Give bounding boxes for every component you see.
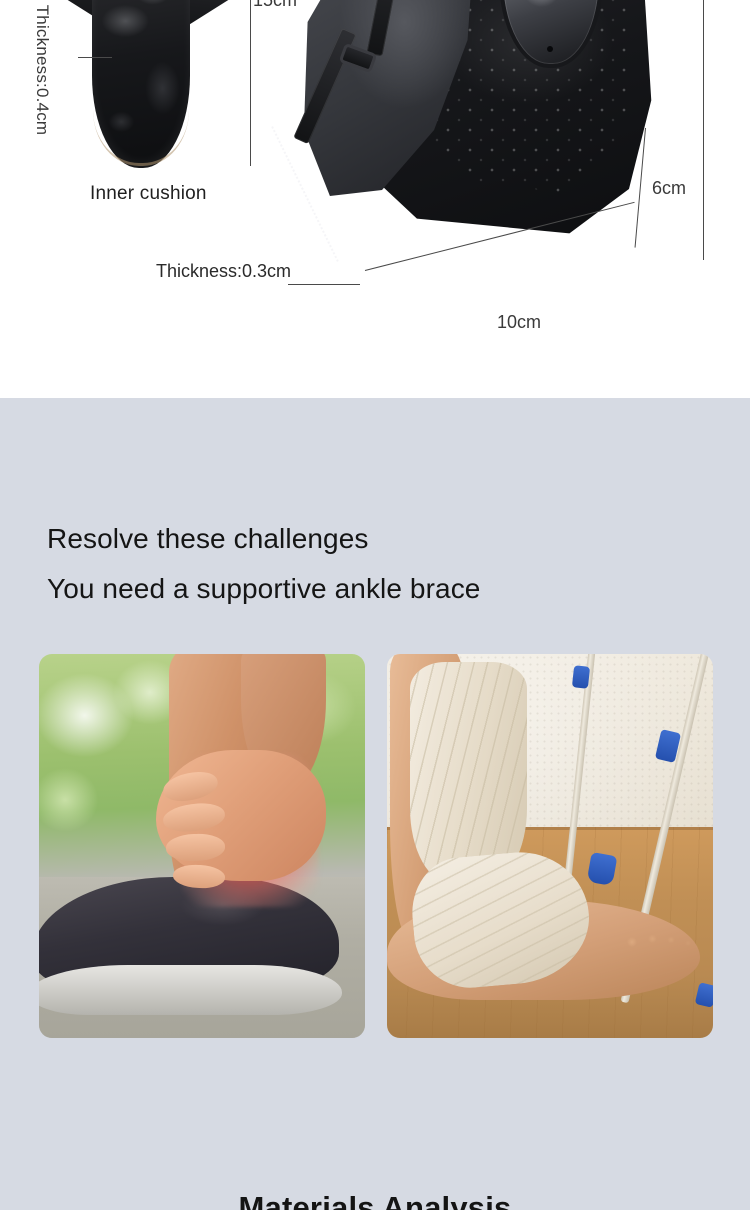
next-section-heading: Materials Analysis bbox=[0, 1192, 750, 1210]
cushion-thickness-leader-line bbox=[78, 57, 112, 58]
product-listing-page: 15cm 6cm 10cm Thickness:0.3cm Thickness:… bbox=[0, 0, 750, 1210]
challenges-section: Resolve these challenges You need a supp… bbox=[0, 398, 750, 1210]
height-label: 15cm bbox=[253, 0, 297, 11]
spec-diagram-section: 15cm 6cm 10cm Thickness:0.3cm Thickness:… bbox=[0, 0, 750, 398]
right-boundary-line bbox=[703, 0, 704, 260]
brace-thickness-leader-line bbox=[288, 284, 360, 285]
toes bbox=[615, 915, 700, 969]
bandaged-ankle-photo bbox=[387, 654, 713, 1038]
depth-label: 6cm bbox=[652, 178, 686, 199]
height-measure-line bbox=[250, 0, 251, 166]
ankle-brace-image bbox=[283, 0, 655, 300]
leg-bandage-wrap bbox=[410, 662, 527, 885]
inner-cushion-image bbox=[62, 0, 234, 170]
inner-cushion-label: Inner cushion bbox=[90, 183, 207, 205]
injured-ankle-photo bbox=[39, 654, 365, 1038]
cushion-thickness-label: Thickness:0.4cm bbox=[32, 0, 52, 140]
challenges-heading-primary: Resolve these challenges bbox=[47, 521, 480, 557]
width-label: 10cm bbox=[497, 312, 541, 333]
shoe-sole bbox=[39, 965, 342, 1015]
shoe-laces bbox=[59, 892, 157, 946]
brace-thickness-label: Thickness:0.3cm bbox=[156, 261, 291, 282]
challenge-photo-row bbox=[39, 654, 713, 1038]
crutch-grip bbox=[572, 665, 590, 689]
challenges-headings: Resolve these challenges You need a supp… bbox=[47, 521, 480, 607]
challenges-heading-secondary: You need a supportive ankle brace bbox=[47, 571, 480, 607]
cushion-rim bbox=[93, 108, 189, 166]
brace-gel-vent-hole bbox=[547, 46, 553, 52]
next-section-heading-text: Materials Analysis bbox=[239, 1192, 512, 1210]
